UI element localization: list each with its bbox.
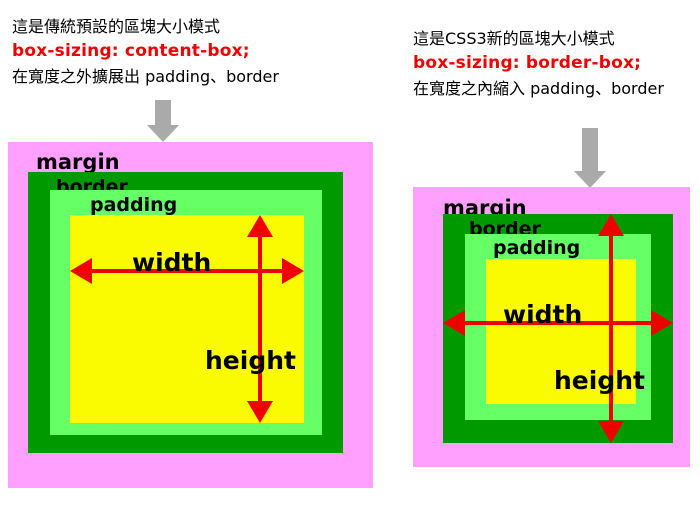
margin-label: margin [36,152,120,173]
down-arrow-icon [147,100,179,142]
arrow-head-left [70,258,92,284]
arrow-head-top [247,215,273,237]
border-box-caption-line3: 在寬度之內縮入 padding、border [413,76,664,101]
content-box-header: 這是傳統預設的區塊大小模式 box-sizing: content-box; 在… [12,14,279,89]
arrow-head-top [598,214,624,236]
arrow-shaft [582,128,598,172]
arrow-head-right [282,258,304,284]
arrow-head-right [651,310,673,336]
padding-label: padding [493,239,580,258]
arrow-head-bottom [247,401,273,423]
arrow-head [574,171,606,188]
border-box-header: 這是CSS3新的區塊大小模式 box-sizing: border-box; 在… [413,26,664,101]
border-box-declaration: box-sizing: border-box; [413,51,664,76]
content-box-caption-line3: 在寬度之外擴展出 padding、border [12,64,279,89]
border-box-caption-line1: 這是CSS3新的區塊大小模式 [413,26,664,51]
content-box-width-label: width [132,250,211,275]
border-box-height-label: height [554,368,645,393]
box-sizing-comparison-diagram: 這是傳統預設的區塊大小模式 box-sizing: content-box; 在… [0,0,700,514]
border-box-width-label: width [503,302,582,327]
arrow-head-left [443,310,465,336]
arrow-shaft [609,226,613,431]
content-box-height-arrow [247,215,273,423]
padding-label: padding [90,196,177,215]
content-box-declaration: box-sizing: content-box; [12,39,279,64]
content-box-height-label: height [205,348,296,373]
arrow-shaft [258,227,262,411]
arrow-shaft [155,100,171,126]
arrow-head [147,125,179,142]
arrow-head-bottom [598,421,624,443]
down-arrow-icon [574,128,606,188]
border-box-height-arrow [598,214,624,443]
content-box-caption-line1: 這是傳統預設的區塊大小模式 [12,14,279,39]
